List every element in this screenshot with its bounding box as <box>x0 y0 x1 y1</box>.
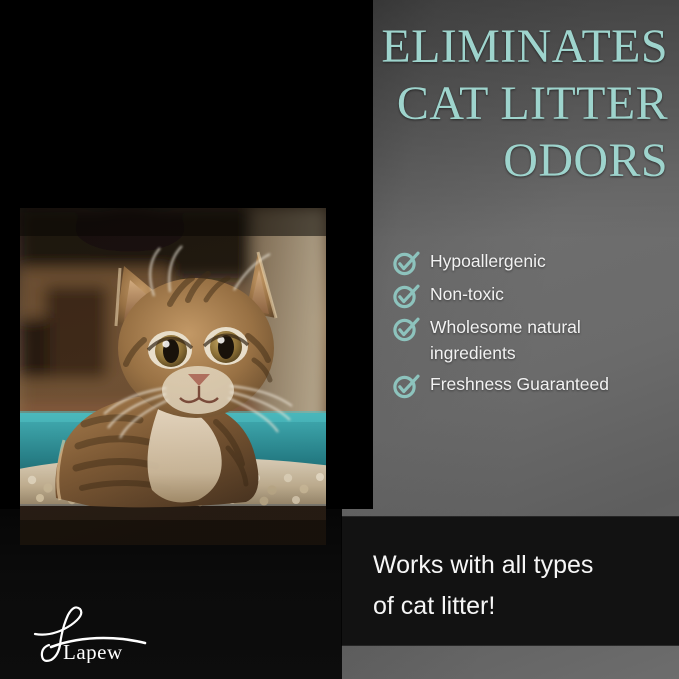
callout-box: Works with all types of cat litter! <box>342 517 679 645</box>
benefit-item: Non-toxic <box>392 281 670 309</box>
benefit-label: Non-toxic <box>430 281 504 307</box>
benefits-list: Hypoallergenic Non-toxic Wholesome natur… <box>392 248 670 404</box>
brand-name: Lapew <box>63 640 123 663</box>
headline: ELIMINATES CAT LITTER ODORS <box>300 18 668 189</box>
callout-line-2: of cat litter! <box>373 586 663 627</box>
check-circle-icon <box>392 282 420 309</box>
benefit-label: Wholesome natural ingredients <box>430 314 670 366</box>
kitten-litter-box-photo <box>20 208 326 545</box>
benefit-label: Freshness Guaranteed <box>430 371 609 397</box>
benefit-item: Hypoallergenic <box>392 248 670 276</box>
brand-logo: Lapew <box>27 601 157 663</box>
callout-text: Works with all types of cat litter! <box>373 545 663 627</box>
check-circle-icon <box>392 249 420 276</box>
benefit-item: Freshness Guaranteed <box>392 371 670 399</box>
headline-line-3: ODORS <box>300 132 668 189</box>
headline-line-2: CAT LITTER <box>300 75 668 132</box>
callout-line-1: Works with all types <box>373 545 663 586</box>
benefit-item: Wholesome natural ingredients <box>392 314 670 366</box>
product-ad-image: ELIMINATES CAT LITTER ODORS Hypoallergen… <box>0 0 679 679</box>
benefit-label: Hypoallergenic <box>430 248 546 274</box>
check-circle-icon <box>392 372 420 399</box>
check-circle-icon <box>392 315 420 342</box>
headline-line-1: ELIMINATES <box>300 18 668 75</box>
